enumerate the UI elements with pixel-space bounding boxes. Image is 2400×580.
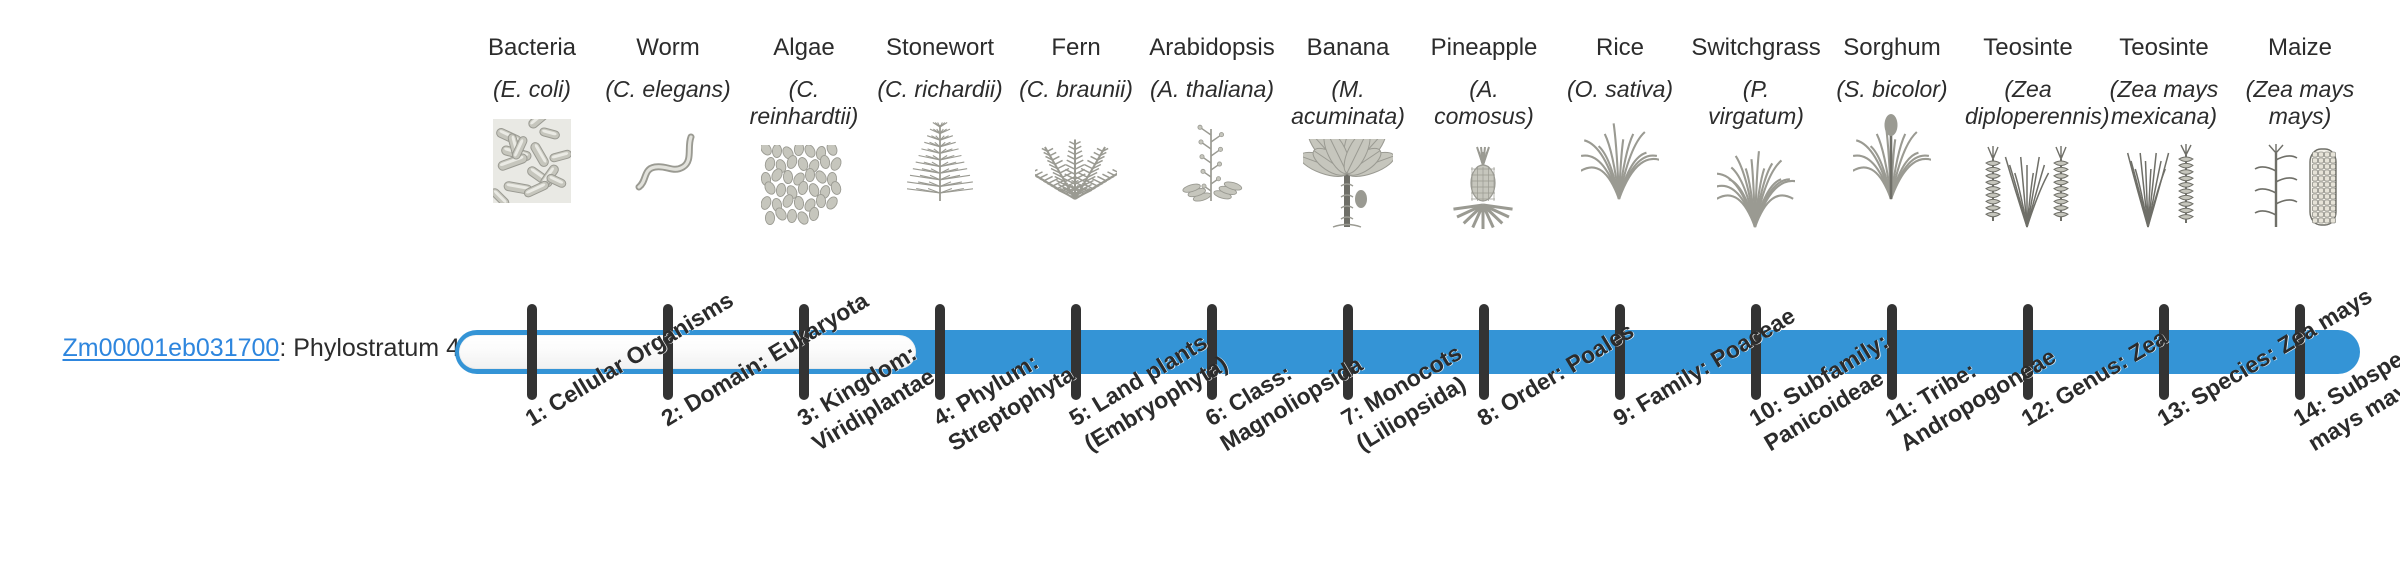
- taxonomy-rank-index: 1:: [521, 398, 552, 431]
- species-latin-name: (C. elegans): [603, 76, 733, 104]
- species-common-name: Arabidopsis: [1147, 34, 1277, 62]
- species-latin-name: (C. reinhardtii): [739, 76, 869, 131]
- species-common-name: Fern: [1011, 34, 1141, 62]
- species-common-name: Teosinte: [1963, 34, 2093, 62]
- species-latin-name: (C. richardii): [875, 76, 1005, 104]
- phylostratum-value: Phylostratum 4: [293, 334, 460, 362]
- species-common-name: Teosinte: [2099, 34, 2229, 62]
- species-column-maize-14: Maize(Zea mays mays): [2235, 34, 2365, 231]
- species-column-worm-2: Worm(C. elegans): [603, 34, 733, 203]
- species-illustration-stonewort-icon: [875, 111, 1005, 203]
- species-illustration-pineapple-icon: [1419, 139, 1549, 231]
- taxonomy-rank-index: 8:: [1473, 398, 1504, 431]
- species-common-name: Bacteria: [467, 34, 597, 62]
- species-illustration-rice-icon: [1555, 111, 1685, 203]
- gene-label-separator: :: [279, 334, 293, 362]
- species-illustration-sorghum-icon: [1827, 111, 1957, 203]
- species-common-name: Switchgrass: [1691, 34, 1821, 62]
- species-column-arabidopsis-6: Arabidopsis(A. thaliana): [1147, 34, 1277, 203]
- species-illustration-fern-icon: [1011, 111, 1141, 203]
- species-latin-name: (E. coli): [467, 76, 597, 104]
- species-illustration-banana-icon: [1283, 139, 1413, 231]
- taxonomy-rank-index: 9:: [1609, 398, 1640, 431]
- species-common-name: Sorghum: [1827, 34, 1957, 62]
- gene-phylostratum-label: Zm00001eb031700: Phylostratum 4: [40, 334, 460, 363]
- species-illustration-maize-icon: [2235, 139, 2365, 231]
- species-latin-name: (Zea mays mexicana): [2099, 76, 2229, 131]
- species-column-fern-5: Fern(C. braunii): [1011, 34, 1141, 203]
- species-illustration-worm-icon: [603, 111, 733, 203]
- species-column-stonewort-4: Stonewort(C. richardii): [875, 34, 1005, 203]
- species-illustration-bacteria-icon: [467, 111, 597, 203]
- species-column-rice-9: Rice(O. sativa): [1555, 34, 1685, 203]
- species-column-banana-7: Banana(M. acuminata): [1283, 34, 1413, 231]
- species-common-name: Pineapple: [1419, 34, 1549, 62]
- species-column-algae-3: Algae(C. reinhardtii): [739, 34, 869, 231]
- species-latin-name: (Zea mays mays): [2235, 76, 2365, 131]
- species-column-teosinte-13: Teosinte(Zea mays mexicana): [2099, 34, 2229, 231]
- species-common-name: Worm: [603, 34, 733, 62]
- species-common-name: Maize: [2235, 34, 2365, 62]
- gene-id-link[interactable]: Zm00001eb031700: [62, 334, 279, 362]
- species-column-teosinte-12: Teosinte(Zea diploperennis): [1963, 34, 2093, 231]
- species-latin-name: (Zea diploperennis): [1963, 76, 2093, 131]
- species-common-name: Banana: [1283, 34, 1413, 62]
- species-common-name: Algae: [739, 34, 869, 62]
- species-illustration-arabidopsis-icon: [1147, 111, 1277, 203]
- species-column-bacteria-1: Bacteria(E. coli): [467, 34, 597, 203]
- species-common-name: Rice: [1555, 34, 1685, 62]
- species-latin-name: (M. acuminata): [1283, 76, 1413, 131]
- species-latin-name: (C. braunii): [1011, 76, 1141, 104]
- species-latin-name: (P. virgatum): [1691, 76, 1821, 131]
- species-illustration-algae-icon: [739, 139, 869, 231]
- species-illustration-teosinte-diplo-icon: [1963, 139, 2093, 231]
- species-illustration-teosinte-mex-icon: [2099, 139, 2229, 231]
- species-latin-name: (O. sativa): [1555, 76, 1685, 104]
- species-latin-name: (A. thaliana): [1147, 76, 1277, 104]
- species-column-pineapple-8: Pineapple(A. comosus): [1419, 34, 1549, 231]
- species-column-switchgrass-10: Switchgrass(P. virgatum): [1691, 34, 1821, 231]
- species-illustration-switchgrass-icon: [1691, 139, 1821, 231]
- species-latin-name: (A. comosus): [1419, 76, 1549, 131]
- species-column-sorghum-11: Sorghum(S. bicolor): [1827, 34, 1957, 203]
- phylostratum-tick-1: [527, 304, 537, 400]
- taxonomy-rank-index: 2:: [657, 398, 688, 431]
- species-latin-name: (S. bicolor): [1827, 76, 1957, 104]
- species-common-name: Stonewort: [875, 34, 1005, 62]
